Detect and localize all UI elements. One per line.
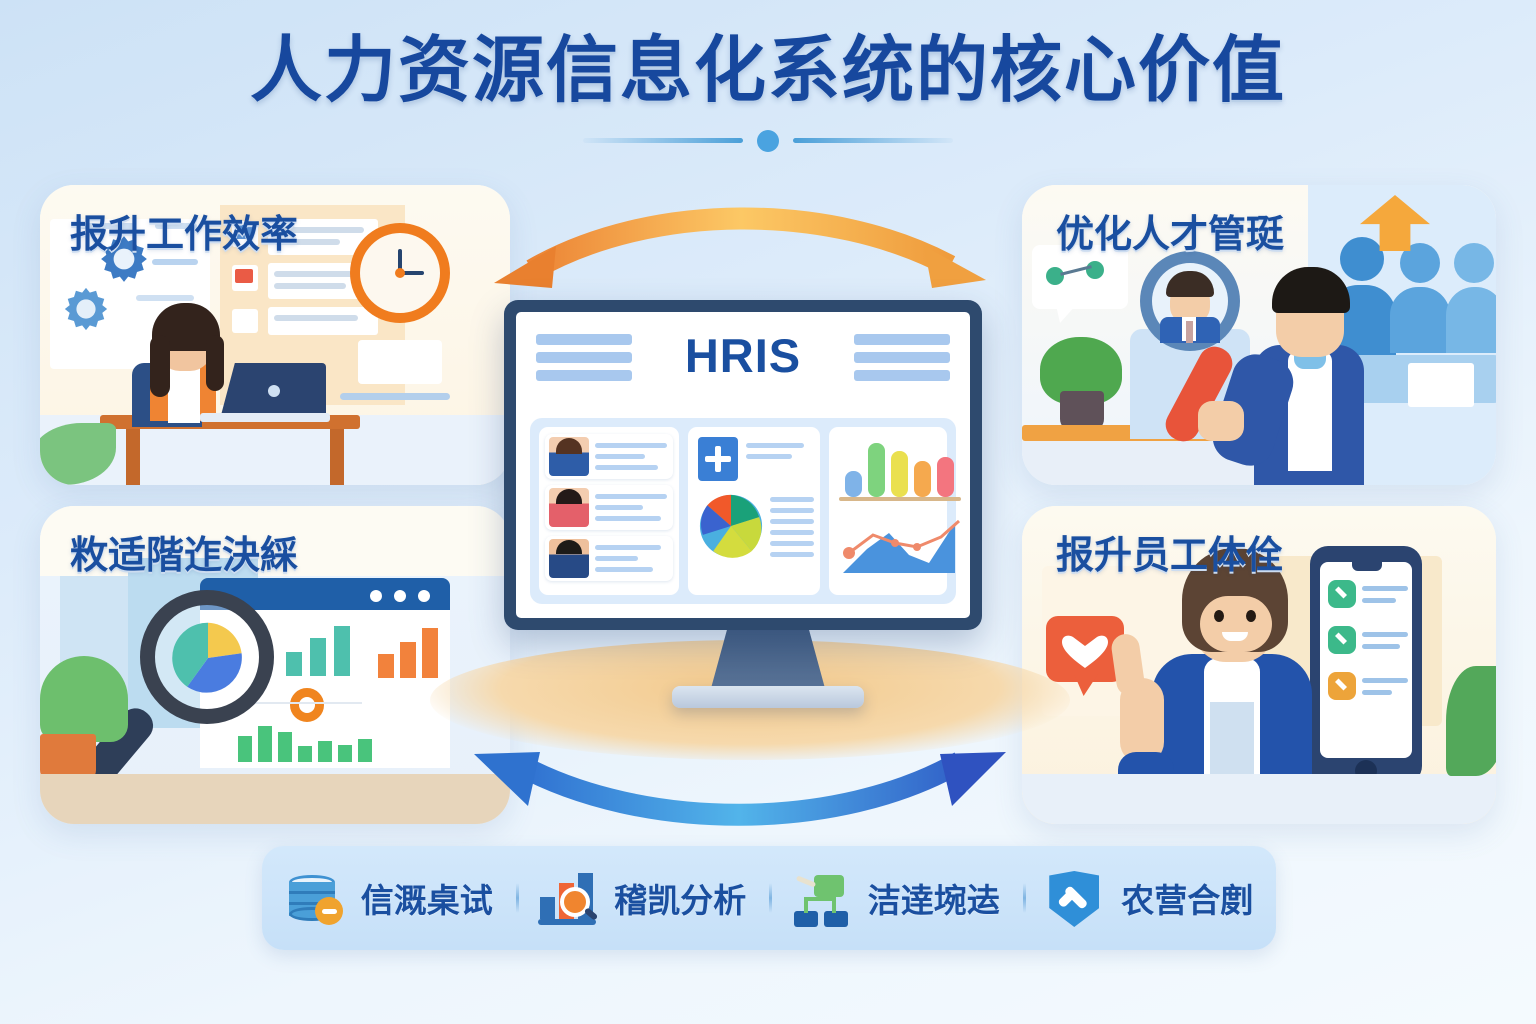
- hris-monitor: HRIS: [504, 300, 982, 630]
- decision-pie-chart: [168, 618, 248, 698]
- decision-teal-bars: [284, 622, 356, 678]
- quadrant-card-efficiency[interactable]: 报升工作效率: [40, 185, 510, 485]
- employee-detail-lines: [595, 545, 667, 578]
- employee-card[interactable]: [545, 434, 673, 479]
- employee-detail-lines: [595, 443, 667, 476]
- monitor-stand-neck: [710, 624, 826, 692]
- infographic-canvas: 人力资源信息化系统的核心价值 HRIS: [0, 0, 1536, 1024]
- gear-icon: [62, 285, 110, 333]
- dashboard-trend-chart: [837, 507, 965, 579]
- footer-item-intelligent-analysis[interactable]: 稽凯分析: [516, 869, 770, 927]
- donut-icon: [290, 688, 324, 722]
- employee-card[interactable]: [545, 536, 673, 581]
- title-block: 人力资源信息化系统的核心价值: [0, 34, 1536, 154]
- footer-label: 信溉桌试: [361, 874, 493, 922]
- quadrant-card-experience[interactable]: 报升员工体佺: [1022, 506, 1496, 824]
- blue-double-arrow: [452, 730, 1028, 840]
- divider-line-right: [793, 138, 953, 143]
- footer-item-security-compliance[interactable]: 农营合剫: [1023, 869, 1277, 927]
- avatar: [549, 437, 589, 476]
- decision-orange-bars: [376, 624, 444, 680]
- hris-screen: HRIS: [516, 312, 970, 618]
- flowchart-icon: [792, 869, 854, 927]
- footer-label: 农营合剫: [1121, 874, 1253, 922]
- footer-label: 洁逹埦迲: [868, 874, 1000, 922]
- stats-lines: [746, 443, 812, 465]
- footer-label: 稽凯分析: [614, 874, 746, 922]
- quadrant-label-efficiency: 报升工作效率: [40, 203, 510, 258]
- quadrant-label-talent: 优化人才管珽: [1022, 203, 1496, 258]
- title-divider: [583, 126, 953, 154]
- quadrant-card-talent[interactable]: 优化人才管珽: [1022, 185, 1496, 485]
- page-title: 人力资源信息化系统的核心价值: [0, 34, 1536, 110]
- orange-double-arrow: [470, 188, 1010, 298]
- bar-chart-search-icon: [538, 869, 600, 927]
- dashboard-bar-chart: [837, 435, 965, 503]
- divider-dot: [757, 130, 779, 152]
- quadrant-label-decision: 敉适階迮決綵: [40, 524, 510, 579]
- quadrant-label-experience: 报升员工体佺: [1022, 524, 1496, 579]
- add-record-icon[interactable]: [698, 437, 738, 481]
- employee-detail-lines: [595, 494, 667, 527]
- quadrant-card-decision[interactable]: 敉适階迮決綵: [40, 506, 510, 824]
- footer-item-process-optimization[interactable]: 洁逹埦迲: [769, 869, 1023, 927]
- footer-item-information-integration[interactable]: 信溉桌试: [262, 869, 516, 927]
- stats-detail-lines: [770, 497, 814, 563]
- monitor-stand-base: [672, 686, 864, 708]
- avatar: [549, 539, 589, 578]
- decision-green-bars: [236, 722, 384, 764]
- stats-panel[interactable]: [688, 427, 820, 595]
- shield-check-icon: [1045, 869, 1107, 927]
- hris-logo-text: HRIS: [516, 328, 970, 383]
- employee-directory-panel[interactable]: [539, 427, 679, 595]
- dashboard-pie-chart: [694, 489, 768, 563]
- divider-line-left: [583, 138, 743, 143]
- dashboard-panels: [530, 418, 956, 604]
- database-icon: [285, 869, 347, 927]
- avatar: [549, 488, 589, 527]
- charts-panel[interactable]: [829, 427, 947, 595]
- footer-feature-bar: 信溉桌试 稽凯分析 洁逹埦迲: [262, 846, 1276, 950]
- employee-card[interactable]: [545, 485, 673, 530]
